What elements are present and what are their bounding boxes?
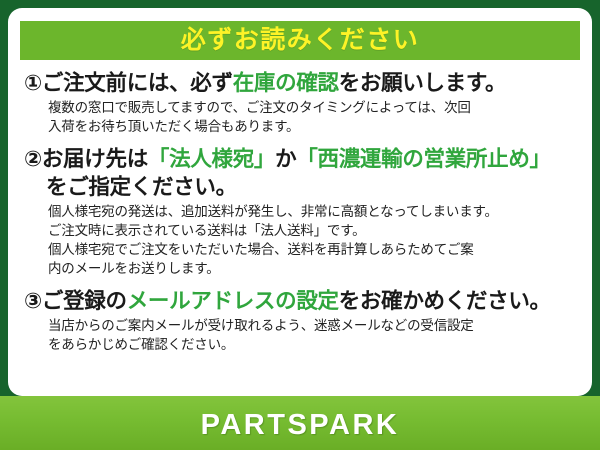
- notice-item-2: ②お届け先は「法人様宛」か「西濃運輸の営業所止め」 をご指定ください。 個人様宅…: [24, 146, 578, 279]
- notice-item-1: ①ご注文前には、必ず在庫の確認をお願いします。 複数の窓口で販売してますので、ご…: [24, 70, 578, 137]
- item-2-body-line-4: 内のメールをお送りします。: [48, 259, 578, 278]
- notice-item-1-heading: ①ご注文前には、必ず在庫の確認をお願いします。: [24, 70, 578, 96]
- brand-name: PARTSPARK: [201, 411, 400, 440]
- notice-item-3-body: 当店からのご案内メールが受け取れるよう、迷惑メールなどの受信設定 をあらかじめご…: [24, 316, 578, 354]
- item-1-heading-post: をお願いします。: [339, 71, 506, 95]
- item-3-heading-pre: ご登録の: [42, 289, 127, 313]
- notice-item-3-heading: ③ご登録のメールアドレスの設定をお確かめください。: [24, 288, 578, 314]
- title-banner: 必ずお読みください: [20, 21, 580, 60]
- notice-item-2-heading-line-2: をご指定ください。: [24, 174, 578, 200]
- item-2-marker: ②: [24, 147, 42, 171]
- item-2-heading-highlight-2: 「西濃運輸の営業所止め」: [296, 147, 550, 171]
- item-3-heading-post: をお確かめください。: [339, 289, 551, 313]
- notice-card: 必ずお読みください ①ご注文前には、必ず在庫の確認をお願いします。 複数の窓口で…: [8, 8, 592, 396]
- item-3-heading-highlight: メールアドレスの設定: [127, 289, 339, 313]
- notice-frame: 必ずお読みください ①ご注文前には、必ず在庫の確認をお願いします。 複数の窓口で…: [0, 0, 600, 450]
- notice-item-2-heading: ②お届け先は「法人様宛」か「西濃運輸の営業所止め」: [24, 146, 578, 172]
- item-2-body-line-3: 個人様宅宛でご注文をいただいた場合、送料を再計算しあらためてご案: [48, 240, 578, 259]
- item-2-heading-highlight: 「法人様宛」: [148, 147, 275, 171]
- item-2-body-line-2: ご注文時に表示されている送料は「法人送料」です。: [48, 221, 578, 240]
- banner-title: 必ずお読みください: [181, 28, 420, 53]
- brand-footer-bar: PARTSPARK: [0, 396, 600, 450]
- item-2-heading-line2-text: をご指定ください。: [46, 175, 237, 199]
- notice-item-3: ③ご登録のメールアドレスの設定をお確かめください。 当店からのご案内メールが受け…: [24, 288, 578, 355]
- item-3-body-line-1: 当店からのご案内メールが受け取れるよう、迷惑メールなどの受信設定: [48, 316, 578, 335]
- item-2-heading-pre: お届け先は: [42, 147, 148, 171]
- notice-item-2-body: 個人様宅宛の発送は、追加送料が発生し、非常に高額となってしまいます。 ご注文時に…: [24, 202, 578, 279]
- item-2-body-line-1: 個人様宅宛の発送は、追加送料が発生し、非常に高額となってしまいます。: [48, 202, 578, 221]
- notice-item-1-body: 複数の窓口で販売してますので、ご注文のタイミングによっては、次回 入荷をお待ち頂…: [24, 98, 578, 136]
- item-1-body-line-2: 入荷をお待ち頂いただく場合もあります。: [48, 117, 578, 136]
- item-1-heading-highlight: 在庫の確認: [233, 71, 339, 95]
- item-2-heading-mid: か: [275, 147, 296, 171]
- item-1-heading-pre: ご注文前には、必ず: [42, 71, 233, 95]
- notice-items-list: ①ご注文前には、必ず在庫の確認をお願いします。 複数の窓口で販売してますので、ご…: [18, 70, 582, 354]
- item-3-marker: ③: [24, 289, 42, 313]
- item-1-body-line-1: 複数の窓口で販売してますので、ご注文のタイミングによっては、次回: [48, 98, 578, 117]
- item-1-marker: ①: [24, 71, 42, 95]
- item-3-body-line-2: をあらかじめご確認ください。: [48, 335, 578, 354]
